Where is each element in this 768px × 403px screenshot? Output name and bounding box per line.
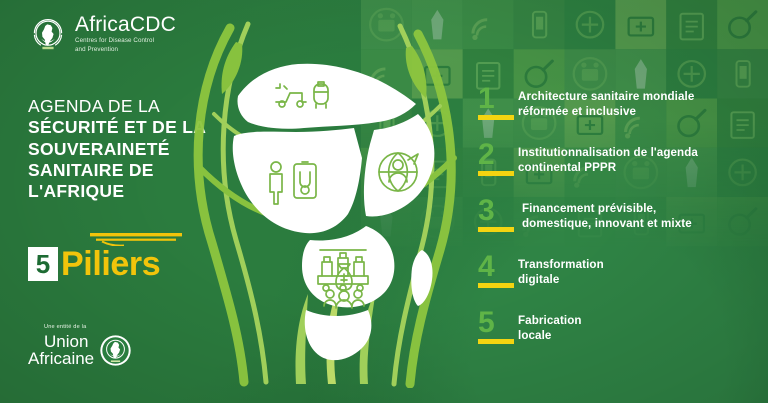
pillar-number-1: 1 — [478, 84, 494, 114]
pillar-item-2: 2 Institutionnalisation de l'agenda cont… — [478, 144, 766, 196]
africa-cdc-wordmark: AfricaCDC — [75, 14, 176, 35]
pillar-text-3-line1: Financement prévisible, — [522, 202, 656, 215]
pillar-text-2-line1: Institutionnalisation de l'agenda — [518, 146, 698, 159]
pillar-number-5: 5 — [478, 308, 494, 338]
pillar-text-1: Architecture sanitaire mondiale réformée… — [518, 88, 766, 120]
pillar-text-4-line2: digitale — [518, 273, 559, 286]
au-name-line1: Union — [28, 333, 94, 350]
pillar-item-3: 3 Financement prévisible, domestique, in… — [478, 200, 766, 252]
pillar-text-5-line1: Fabrication — [518, 314, 582, 327]
pillar-text-3-line2: domestique, innovant et mixte — [522, 217, 692, 230]
infographic-poster: AfricaCDC Centres for Disease Control an… — [0, 0, 768, 403]
pillar-text-5: Fabrication locale — [518, 312, 766, 344]
pillar-count-badge: 5 — [28, 247, 58, 281]
pillar-bar-2 — [478, 171, 514, 176]
au-tagline: Une entité de la — [28, 325, 94, 331]
pillars-list: 1 Architecture sanitaire mondiale réform… — [478, 88, 766, 368]
africa-cdc-tagline: Centres for Disease Control and Preventi… — [75, 37, 176, 54]
africa-cdc-emblem-icon — [28, 14, 68, 54]
pillar-number-2: 2 — [478, 140, 494, 170]
pillar-bar-3 — [478, 227, 514, 232]
pillar-bar-4 — [478, 283, 514, 288]
pillar-text-3: Financement prévisible, domestique, inno… — [522, 200, 766, 232]
pillar-item-1: 1 Architecture sanitaire mondiale réform… — [478, 88, 766, 140]
africa-cdc-tagline-line2: and Prevention — [75, 46, 118, 53]
five-pillars-logo: 5 Piliers — [28, 233, 203, 289]
pillar-capital-icon — [90, 233, 182, 246]
pillar-item-4: 4 Transformation digitale — [478, 256, 766, 308]
pillar-item-5: 5 Fabrication locale — [478, 312, 766, 364]
pillar-text-5-line2: locale — [518, 329, 551, 342]
pillar-text-1-line1: Architecture sanitaire mondiale — [518, 90, 694, 103]
pillar-number-4: 4 — [478, 252, 494, 282]
africa-map-puzzle — [178, 18, 478, 388]
au-name-line2: Africaine — [28, 350, 94, 368]
pillar-bar-1 — [478, 115, 514, 120]
african-union-emblem-icon — [99, 334, 132, 367]
africa-map-graphic — [178, 18, 478, 388]
africa-cdc-tagline-line1: Centres for Disease Control — [75, 37, 154, 44]
pillar-text-2-line2: continental PPPR — [518, 161, 616, 174]
pillar-text-1-line2: réformée et inclusive — [518, 105, 636, 118]
pillar-number-3: 3 — [478, 196, 494, 226]
map-piece-west — [233, 128, 362, 233]
pillar-text-2: Institutionnalisation de l'agenda contin… — [518, 144, 766, 176]
map-piece-north — [237, 64, 416, 129]
pillar-word: Piliers — [61, 247, 160, 281]
pillar-text-4: Transformation digitale — [518, 256, 766, 288]
pillar-text-4-line1: Transformation — [518, 258, 604, 271]
pillar-bar-5 — [478, 339, 514, 344]
